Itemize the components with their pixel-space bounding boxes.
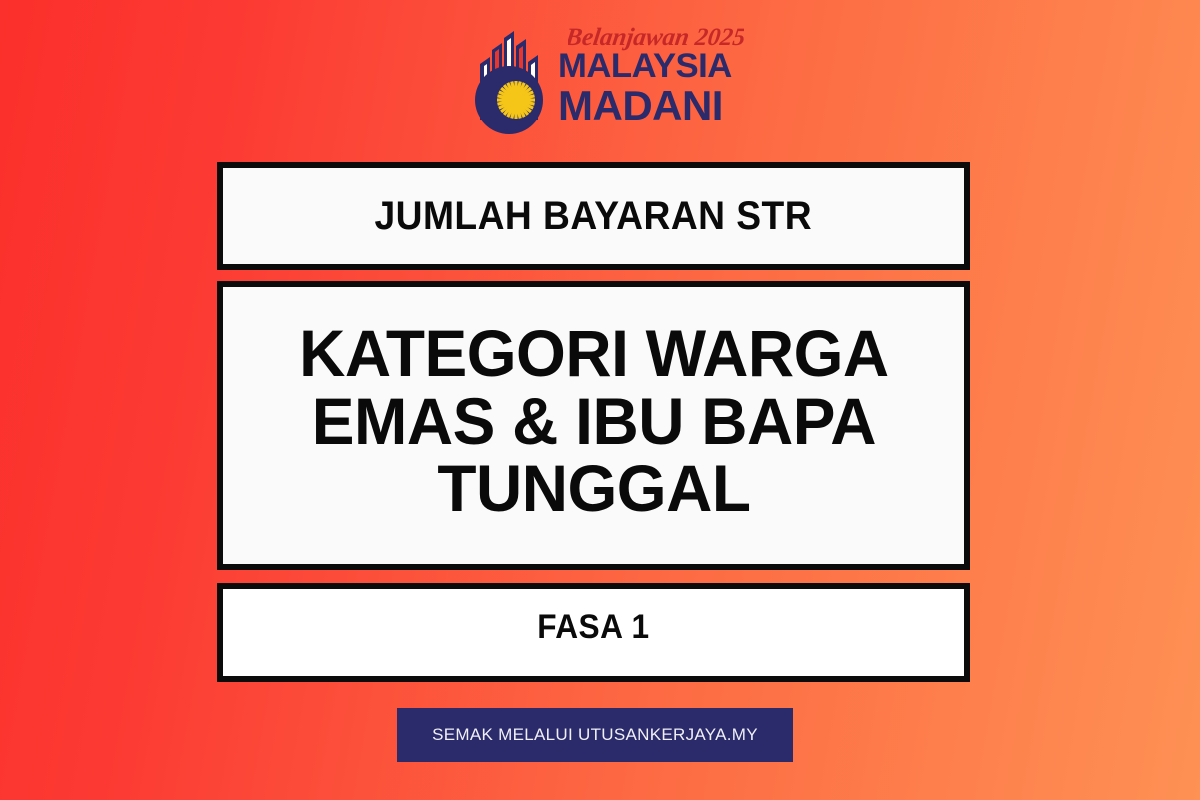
title-panel: KATEGORI WARGA EMAS & IBU BAPA TUNGGAL: [217, 281, 970, 570]
heading-panel: JUMLAH BAYARAN STR: [217, 162, 970, 270]
footer-cta-bar[interactable]: SEMAK MELALUI UTUSANKERJAYA.MY: [397, 708, 793, 762]
wordmark-malaysia: MALAYSIA: [558, 52, 732, 82]
malaysia-crescent-star-emblem: [466, 24, 550, 136]
logo-wordmark: Belanjawan 2025 MALAYSIA MADANI: [558, 22, 738, 136]
heading-text: JUMLAH BAYARAN STR: [375, 194, 813, 239]
wordmark-madani: MADANI: [558, 88, 723, 125]
poster-canvas: Belanjawan 2025 MALAYSIA MADANI JUMLAH B…: [0, 0, 1200, 800]
malaysia-madani-logo: Belanjawan 2025 MALAYSIA MADANI: [466, 18, 740, 136]
title-line-1: KATEGORI WARGA: [299, 320, 889, 388]
footer-cta-text: SEMAK MELALUI UTUSANKERJAYA.MY: [432, 725, 758, 745]
phase-panel: FASA 1: [217, 583, 970, 682]
phase-text: FASA 1: [537, 608, 649, 647]
title-line-3: TUNGGAL: [299, 455, 889, 523]
title-text: KATEGORI WARGA EMAS & IBU BAPA TUNGGAL: [299, 320, 889, 532]
title-line-2: EMAS & IBU BAPA: [299, 388, 889, 456]
